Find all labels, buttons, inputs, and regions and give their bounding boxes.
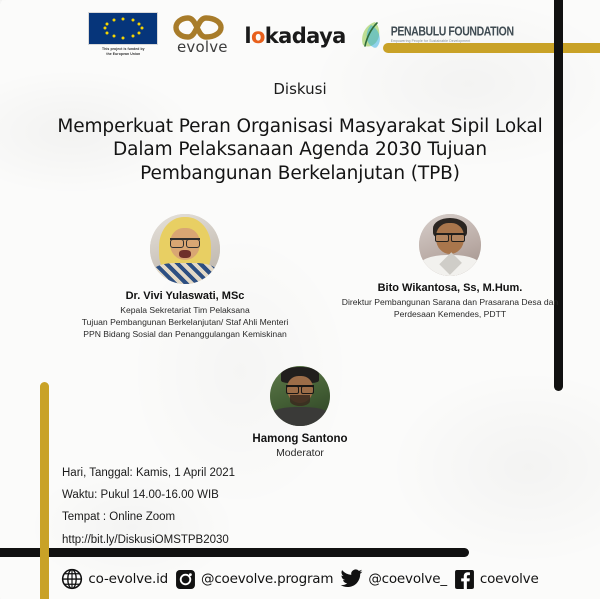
penabulu-tagline: Empowering People for Sustainable Develo… [391,40,514,43]
moderator-photo-hamong-santono [270,366,330,426]
eu-star-icon [113,35,116,38]
event-detail-place: Tempat : Online Zoom [62,506,235,528]
speaker-role-line: Perdesaan Kemendes, PDTT [325,308,575,320]
kicker-text: Diskusi [0,80,600,98]
speaker-card-bito-wikantosa: Bito Wikantosa, Ss, M.Hum. Direktur Pemb… [325,214,575,320]
page-title: Memperkuat Peran Organisasi Masyarakat S… [50,115,550,185]
eu-star-icon [106,22,109,25]
social-handle: coevolve [480,571,539,587]
speaker-photo-bito-wikantosa [419,214,481,276]
event-registration-link[interactable]: http://bit.ly/DiskusiOMSTPB2030 [62,529,235,551]
event-detail-time: Waktu: Pukul 14.00-16.00 WIB [62,484,235,506]
instagram-icon [175,569,196,590]
eu-star-icon [122,18,125,21]
moderator-card-hamong-santono: Hamong Santono Moderator [215,366,385,461]
speaker-name: Bito Wikantosa, Ss, M.Hum. [325,282,575,294]
speaker-role-line: Direktur Pembangunan Sarana dan Prasaran… [325,296,575,308]
social-handle: co-evolve.id [88,571,168,587]
eu-funding-caption: This project is funded by the European U… [102,47,145,56]
speaker-role: Kepala Sekretariat Tim Pelaksana Tujuan … [45,304,325,341]
eu-star-icon [138,32,141,35]
lokadaya-word-pre: l [244,24,251,48]
eu-star-icon [140,27,143,30]
penabulu-title: PENABULU FOUNDATION [391,25,514,38]
eu-star-icon [113,19,116,22]
speaker-role-line: Tujuan Pembangunan Berkelanjutan/ Staf A… [45,316,325,328]
speaker-photo-vivi-yulaswati [150,214,220,284]
eu-flag-icon [88,12,158,45]
penabulu-text-block: PENABULU FOUNDATION Empowering People fo… [391,27,514,44]
eu-star-icon [131,19,134,22]
social-website[interactable]: co-evolve.id [61,568,168,590]
speaker-card-vivi-yulaswati: Dr. Vivi Yulaswati, MSc Kepala Sekretari… [45,214,325,341]
european-union-logo: This project is funded by the European U… [86,12,160,56]
moderator-name: Hamong Santono [215,433,385,445]
social-footer: co-evolve.id @coevolve.program @coevolve… [0,562,600,596]
speaker-name: Dr. Vivi Yulaswati, MSc [45,290,325,302]
logo-row: This project is funded by the European U… [0,6,600,62]
eu-star-icon [138,22,141,25]
facebook-icon [454,569,475,590]
evolve-logo: evolve [173,14,231,56]
speaker-role: Direktur Pembangunan Sarana dan Prasaran… [325,296,575,320]
penabulu-foundation-logo: PENABULU FOUNDATION Empowering People fo… [359,20,514,50]
eu-star-icon [131,35,134,38]
moderator-role: Moderator [215,446,385,461]
eu-star-icon [103,27,106,30]
social-facebook[interactable]: coevolve [454,569,539,590]
twitter-icon [340,569,363,590]
globe-icon [61,568,83,590]
poster-canvas: This project is funded by the European U… [0,0,600,599]
social-handle: @coevolve_ [368,571,447,587]
speaker-role-line: Kepala Sekretariat Tim Pelaksana [45,304,325,316]
event-details: Hari, Tanggal: Kamis, 1 April 2021 Waktu… [62,462,235,551]
lokadaya-logo: lokadaya [244,24,345,48]
social-handle: @coevolve.program [201,571,333,587]
lokadaya-word-post: kadaya [265,24,346,48]
speaker-role-line: PPN Bidang Sosial dan Penanggulangan Kem… [45,328,325,340]
infinity-icon [173,14,231,41]
penabulu-leaf-icon [359,20,387,50]
eu-star-icon [106,32,109,35]
evolve-wordmark: evolve [177,38,228,56]
lokadaya-word-accent: o [251,24,265,48]
social-twitter[interactable]: @coevolve_ [340,569,447,590]
event-detail-date: Hari, Tanggal: Kamis, 1 April 2021 [62,462,235,484]
eu-star-icon [122,36,125,39]
social-instagram[interactable]: @coevolve.program [175,569,333,590]
